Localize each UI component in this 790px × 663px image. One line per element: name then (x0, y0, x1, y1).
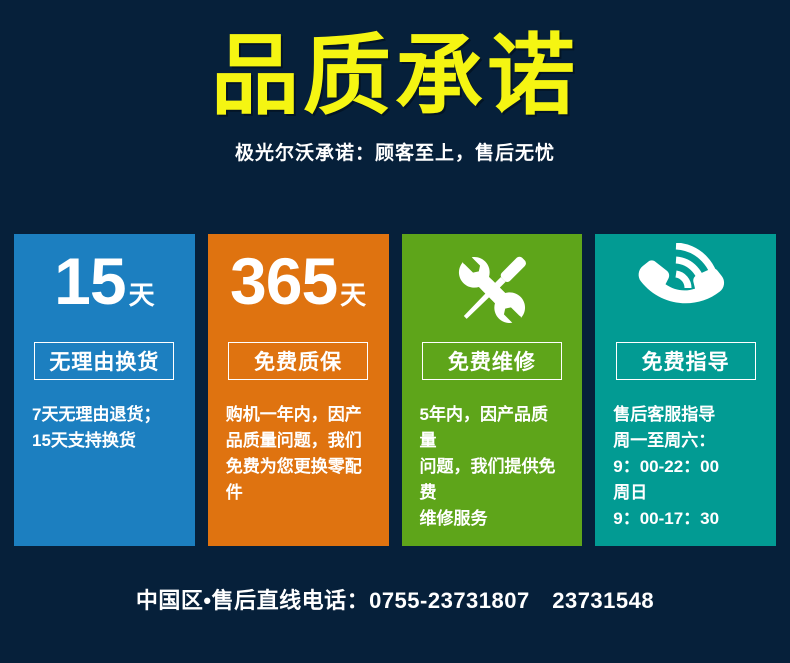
footer: 中国区•售后直线电话：0755-23731807 23731548 (0, 583, 790, 615)
card-body-line: 9：00-17：30 (613, 506, 758, 532)
card-body-line: 问题，我们提供免费 (420, 454, 565, 506)
card-label: 免费指导 (642, 346, 730, 376)
card-label-box: 免费维修 (422, 342, 562, 380)
page-title: 品质承诺 (0, 0, 790, 120)
phone-signal-icon (607, 234, 764, 338)
promise-card-free-guidance[interactable]: 免费指导 售后客服指导 周一至周六： 9：00-22：00 周日 9：00-17… (595, 234, 776, 546)
card-body-line: 7天无理由退货； (32, 402, 177, 428)
card-body-line: 周一至周六： (613, 428, 758, 454)
promise-card-free-warranty[interactable]: 365 天 免费质保 购机一年内，因产 品质量问题，我们 免费为您更换零配 件 (208, 234, 389, 546)
card-body: 5年内，因产品质量 问题，我们提供免费 维修服务 (414, 402, 571, 532)
support-hotline: 中国区•售后直线电话：0755-23731807 23731548 (136, 588, 654, 613)
card-body-line: 9：00-22：00 (613, 454, 758, 480)
card-body: 购机一年内，因产 品质量问题，我们 免费为您更换零配 件 (220, 402, 377, 506)
header: 品质承诺 极光尔沃承诺：顾客至上，售后无忧 (0, 0, 790, 200)
big-number: 15 (54, 248, 125, 314)
big-number-group: 365 天 (220, 234, 377, 338)
card-body: 售后客服指导 周一至周六： 9：00-22：00 周日 9：00-17：30 (607, 402, 764, 532)
card-label: 免费维修 (448, 346, 536, 376)
promise-card-free-repair[interactable]: 免费维修 5年内，因产品质量 问题，我们提供免费 维修服务 (402, 234, 583, 546)
card-body-line: 维修服务 (420, 506, 565, 532)
big-number-group: 15 天 (26, 234, 183, 338)
card-label: 无理由换货 (49, 346, 159, 376)
card-body-line: 5年内，因产品质量 (420, 402, 565, 454)
wrench-screwdriver-icon (414, 234, 571, 338)
promise-card-no-reason-exchange[interactable]: 15 天 无理由换货 7天无理由退货； 15天支持换货 (14, 234, 195, 546)
big-number: 365 (230, 248, 337, 314)
card-label-box: 免费指导 (616, 342, 756, 380)
promise-card-list: 15 天 无理由换货 7天无理由退货； 15天支持换货 365 天 免费质保 购… (14, 234, 776, 546)
page-subtitle: 极光尔沃承诺：顾客至上，售后无忧 (0, 120, 790, 165)
big-number-unit: 天 (129, 282, 155, 308)
card-body-line: 售后客服指导 (613, 402, 758, 428)
card-label-box: 免费质保 (228, 342, 368, 380)
promo-banner: 品质承诺 极光尔沃承诺：顾客至上，售后无忧 15 天 无理由换货 7天无理由退货… (0, 0, 790, 663)
card-body-line: 免费为您更换零配 (226, 454, 371, 480)
card-body-line: 品质量问题，我们 (226, 428, 371, 454)
card-body-line: 15天支持换货 (32, 428, 177, 454)
card-body-line: 件 (226, 480, 371, 506)
card-label-box: 无理由换货 (34, 342, 174, 380)
card-body: 7天无理由退货； 15天支持换货 (26, 402, 183, 454)
card-body-line: 购机一年内，因产 (226, 402, 371, 428)
card-label: 免费质保 (254, 346, 342, 376)
big-number-unit: 天 (340, 282, 366, 308)
card-body-line: 周日 (613, 480, 758, 506)
